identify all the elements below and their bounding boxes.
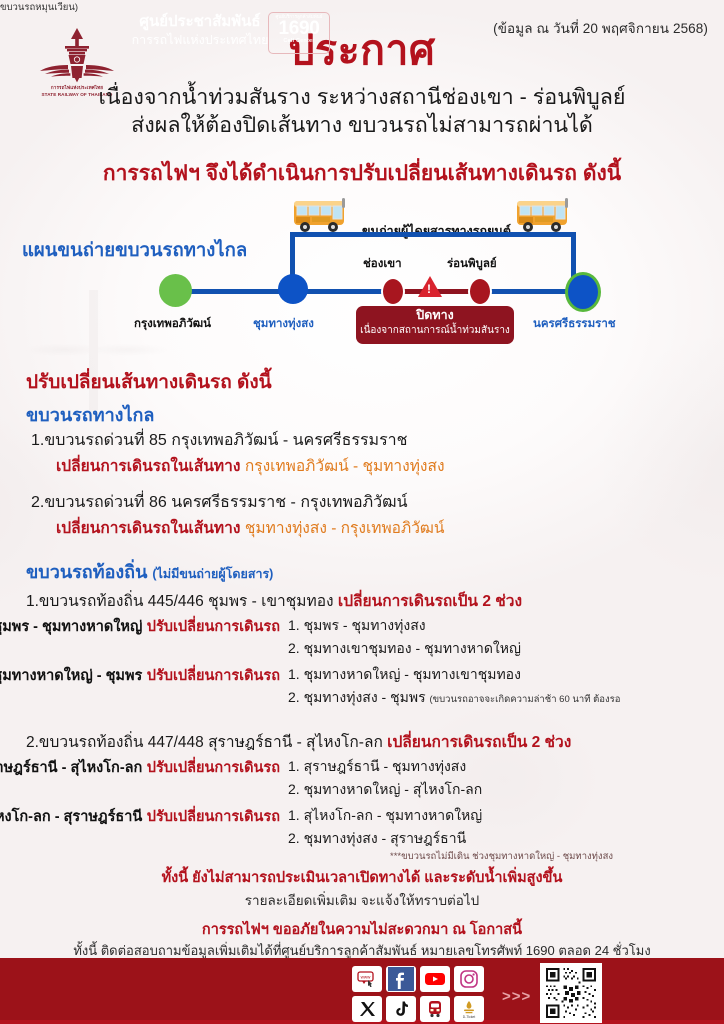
station-label-thung-song: ชุมทางทุ่งสง xyxy=(253,315,314,333)
segment-text: 2. ชุมทางทุ่งสง - ชุมพร xyxy=(288,689,426,705)
train-447-segment-1: 1. สุราษฎร์ธานี - ชุมทางทุ่งสง xyxy=(288,756,466,778)
item-index: 1. xyxy=(31,432,44,449)
long-distance-item-2-change: เปลี่ยนการเดินรถในเส้นทาง ชุมทางทุ่งสง -… xyxy=(56,515,445,540)
train-445-row: 445 ชุมพร - ชุมทางหาดใหญ่ ปรับเปลี่ยนการ… xyxy=(0,615,280,638)
station-label-bangkok: กรุงเทพอภิวัฒน์ xyxy=(134,315,211,333)
d-ticket-app-icon[interactable]: D-Ticket xyxy=(454,996,484,1022)
train-448-row: 448 สุไหงโก-ลก - สุราษฎร์ธานี ปรับเปลี่ย… xyxy=(0,805,280,828)
train-description: ขบวนรถด่วนที่ 85 กรุงเทพอภิวัฒน์ - นครศร… xyxy=(44,432,407,449)
group-emphasis: เปลี่ยนการเดินรถเป็น 2 ช่วง xyxy=(338,593,522,610)
train-446-row: 446 ชุมทางหาดใหญ่ - ชุมพร ปรับเปลี่ยนการ… xyxy=(0,664,280,687)
change-route: ชุมทางทุ่งสง - กรุงเทพอภิวัฒน์ xyxy=(245,520,445,537)
call-center-number: 1690 xyxy=(269,19,329,38)
train-code: 446 ชุมทางหาดใหญ่ - ชุมพร xyxy=(0,668,142,684)
arrow-pointer: >>> xyxy=(502,988,531,1005)
diagram-title: แผนขนถ่ายขบวนรถทางไกล xyxy=(22,236,247,265)
announcement-poster: (ข้อมูล ณ วันที่ 20 พฤศจิกายน 2568) xyxy=(0,0,724,1024)
bus-icon xyxy=(290,193,354,237)
station-node-ron-phibun xyxy=(468,277,492,306)
station-label-chong-khao: ช่องเขา xyxy=(363,255,402,273)
closed-box-reason: เนื่องจากสถานการณ์น้ำท่วมสันราง xyxy=(356,324,514,337)
watermark-right xyxy=(604,330,724,590)
closing-line-2: รายละเอียดเพิ่มเติม จะแจ้งให้ทราบต่อไป xyxy=(0,889,724,911)
footer-center-line-2: การรถไฟแห่งประเทศไทย xyxy=(120,32,280,48)
long-distance-item-1-train: 1.ขบวนรถด่วนที่ 85 กรุงเทพอภิวัฒน์ - นคร… xyxy=(31,428,408,453)
train-447-row: 447 สุราษฎร์ธานี - สุไหงโก-ลก ปรับเปลี่ย… xyxy=(0,756,280,779)
group-line-text: 1.ขบวนรถท้องถิ่น 445/446 ชุมพร - เขาชุมท… xyxy=(26,593,334,610)
change-route: กรุงเทพอภิวัฒน์ - ชุมทางทุ่งสง xyxy=(245,458,445,475)
change-label: เปลี่ยนการเดินรถในเส้นทาง xyxy=(56,458,240,475)
train-448-segment-2: 2. ชุมทางทุ่งสง - สุราษฎร์ธานี xyxy=(288,828,466,850)
group-line-text: 2.ขบวนรถท้องถิ่น 447/448 สุราษฎร์ธานี - … xyxy=(26,734,383,751)
group-2-star-note: ***ขบวนรถไม่มีเดิน ช่วงชุมทางหาดใหญ่ - ช… xyxy=(390,849,613,864)
train-action: ปรับเปลี่ยนการเดินรถ xyxy=(147,668,280,684)
closed-box-title: ปิดทาง xyxy=(356,307,514,324)
group-emphasis: เปลี่ยนการเดินรถเป็น 2 ช่วง xyxy=(387,734,571,751)
local-heading-note: (ไม่มีขนถ่ายผู้โดยสาร) xyxy=(152,567,273,581)
x-twitter-icon[interactable] xyxy=(352,996,382,1022)
station-node-bangkok xyxy=(159,274,192,307)
station-node-chong-khao xyxy=(381,277,405,306)
station-label-ron-phibun: ร่อนพิบูลย์ xyxy=(447,255,497,273)
closing-line-1: ทั้งนี้ ยังไม่สามารถประเมินเวลาเปิดทางได… xyxy=(0,866,724,889)
footer-center-line-1: ศูนย์ประชาสัมพันธ์ xyxy=(120,13,280,32)
tiktok-icon[interactable] xyxy=(386,996,416,1022)
rail-line xyxy=(172,289,586,294)
srt-train-app-icon[interactable] xyxy=(420,996,450,1022)
train-action: ปรับเปลี่ยนการเดินรถ xyxy=(147,809,280,825)
facebook-icon[interactable] xyxy=(386,966,416,992)
train-446-segment-1: 1. ชุมทางหาดใหญ่ - ชุมทางเขาชุมทอง xyxy=(288,664,521,686)
train-code: 447 สุราษฎร์ธานี - สุไหงโก-ลก xyxy=(0,760,142,776)
local-trains-heading: ขบวนรถท้องถิ่น (ไม่มีขนถ่ายผู้โดยสาร) xyxy=(26,557,273,586)
station-label-nakhon-si: นครศรีธรรมราช xyxy=(533,315,616,333)
bus-icon xyxy=(513,193,577,237)
station-node-thung-song xyxy=(278,274,308,304)
train-448-segment-1: 1. สุไหงโก-ลก - ชุมทางหาดใหญ่ xyxy=(288,805,482,827)
youtube-icon[interactable] xyxy=(420,966,450,992)
website-icon[interactable]: www xyxy=(352,966,382,992)
item-index: 2. xyxy=(31,494,44,511)
warning-exclamation: ! xyxy=(427,283,431,295)
bus-transfer-label: ขนถ่ายผู้ไดยสารทางรถยนต์ xyxy=(362,221,511,241)
train-447-segment-2: 2. ชุมทางหาดใหญ่ - สุไหงโก-ลก xyxy=(288,779,482,801)
train-445-segment-2: 2. ชุมทางเขาชุมทอง - ชุมทางหาดใหญ่ xyxy=(288,638,521,660)
subtitle-line-1: เนื่องจากน้ำท่วมสันราง ระหว่างสถานีช่องเ… xyxy=(0,84,724,111)
transfer-diagram: แผนขนถ่ายขบวนรถทางไกล ขนถ่ายผู้ไดยสารทาง… xyxy=(0,196,724,344)
train-445-segment-1: 1. ชุมพร - ชุมทางทุ่งสง xyxy=(288,615,426,637)
footer-org-block: ศูนย์ประชาสัมพันธ์ การรถไฟแห่งประเทศไทย xyxy=(120,13,280,48)
social-icon-grid: www D-Ticket xyxy=(352,966,484,1022)
call-center-badge[interactable]: ศูนย์บริการลูกค้าสัมพันธ์ 1690 Call Cent… xyxy=(268,12,330,54)
instagram-icon[interactable] xyxy=(454,966,484,992)
train-description: ขบวนรถด่วนที่ 86 นครศรีธรรมราช - กรุงเทพ… xyxy=(44,494,407,511)
qr-code-icon[interactable] xyxy=(540,963,602,1023)
long-distance-heading: ขบวนรถทางไกล xyxy=(26,400,154,429)
train-446-note-continued: ขบวนรถหมุนเวียน) xyxy=(0,0,724,15)
train-code: 448 สุไหงโก-ลก - สุราษฎร์ธานี xyxy=(0,809,142,825)
train-code: 445 ชุมพร - ชุมทางหาดใหญ่ xyxy=(0,619,142,635)
closed-route-box: ปิดทาง เนื่องจากสถานการณ์น้ำท่วมสันราง xyxy=(356,306,514,344)
train-action: ปรับเปลี่ยนการเดินรถ xyxy=(147,619,280,635)
long-distance-item-2-train: 2.ขบวนรถด่วนที่ 86 นครศรีธรรมราช - กรุงเ… xyxy=(31,490,408,515)
long-distance-item-1-change: เปลี่ยนการเดินรถในเส้นทาง กรุงเทพอภิวัฒน… xyxy=(56,453,445,478)
svg-text:www: www xyxy=(361,975,371,980)
closing-line-3: การรถไฟฯ ขออภัยในความไม่สะดวกมา ณ โอกาสน… xyxy=(0,918,724,941)
segment-note: (ขบวนรถอาจจะเกิดความล่าช้า 60 นาที ต้องร… xyxy=(429,694,620,705)
train-action: ปรับเปลี่ยนการเดินรถ xyxy=(147,760,280,776)
call-center-caption: Call Center xyxy=(269,38,329,44)
train-446-segment-2: 2. ชุมทางทุ่งสง - ชุมพร (ขบวนรถอาจจะเกิด… xyxy=(288,687,620,709)
page-title: ประกาศ xyxy=(0,30,724,71)
change-label: เปลี่ยนการเดินรถในเส้นทาง xyxy=(56,520,240,537)
subtitle-line-2: ส่งผลให้ต้องปิดเส้นทาง ขบวนรถไม่สามารถผ่… xyxy=(0,112,724,139)
station-node-nakhon-si xyxy=(565,272,601,312)
subtitle-line-3: การรถไฟฯ จึงได้ดำเนินการปรับเปลี่ยนเส้นท… xyxy=(0,157,724,190)
adjust-routes-heading: ปรับเปลี่ยนเส้นทางเดินรถ ดังนี้ xyxy=(26,367,272,397)
local-heading-text: ขบวนรถท้องถิ่น xyxy=(26,562,147,582)
local-group-1-line: 1.ขบวนรถท้องถิ่น 445/446 ชุมพร - เขาชุมท… xyxy=(26,588,522,613)
local-group-2-line: 2.ขบวนรถท้องถิ่น 447/448 สุราษฎร์ธานี - … xyxy=(26,729,571,754)
svg-text:D-Ticket: D-Ticket xyxy=(463,1015,476,1019)
